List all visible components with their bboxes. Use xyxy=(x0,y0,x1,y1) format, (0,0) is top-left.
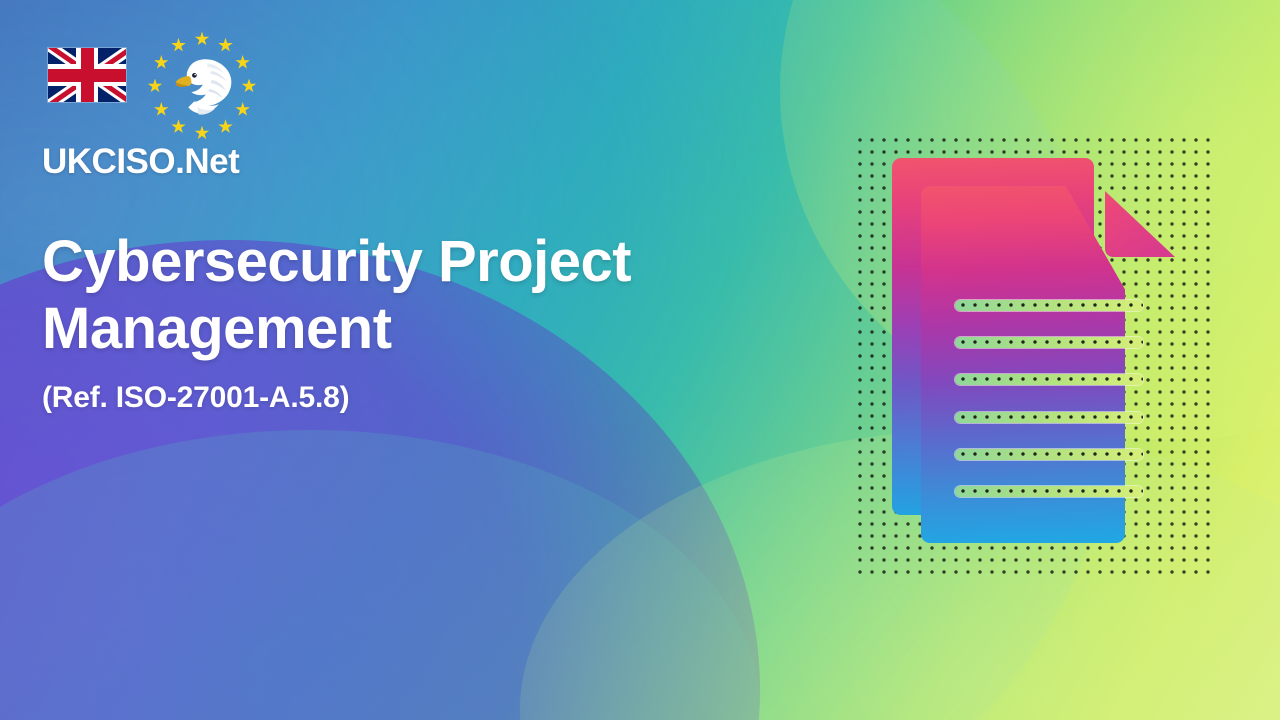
slide-canvas: UKCISO.Net Cybersecurity Project Managem… xyxy=(0,0,1280,720)
page-title: Cybersecurity Project Management xyxy=(42,228,802,363)
uk-flag-icon xyxy=(48,48,126,102)
background-teal-wedge xyxy=(0,430,760,720)
document-stack-illustration xyxy=(852,132,1218,580)
eu-star-icon xyxy=(242,79,257,94)
document-text-line xyxy=(955,449,1143,460)
document-text-line xyxy=(955,412,1143,423)
page-title-line-2: Management xyxy=(42,296,392,361)
folded-corner-icon xyxy=(1105,191,1175,257)
document-text-line xyxy=(955,486,1143,497)
eu-star-icon xyxy=(195,126,210,141)
logo-row xyxy=(42,32,342,142)
document-text-line xyxy=(955,374,1143,385)
eagle-head-icon xyxy=(164,48,240,124)
document-text-line xyxy=(955,300,1143,311)
brand-logo-block: UKCISO.Net xyxy=(42,32,342,179)
eu-star-icon xyxy=(195,32,210,47)
page-title-line-1: Cybersecurity Project xyxy=(42,229,631,294)
headline-block: Cybersecurity Project Management (Ref. I… xyxy=(42,228,802,415)
document-text-line xyxy=(955,337,1143,348)
standard-reference-label: (Ref. ISO-27001-A.5.8) xyxy=(42,381,802,415)
eagle-eu-stars-icon xyxy=(146,32,258,140)
document-stack-icon xyxy=(852,132,1218,580)
brand-name: UKCISO.Net xyxy=(42,144,342,179)
eu-star-icon xyxy=(148,79,163,94)
